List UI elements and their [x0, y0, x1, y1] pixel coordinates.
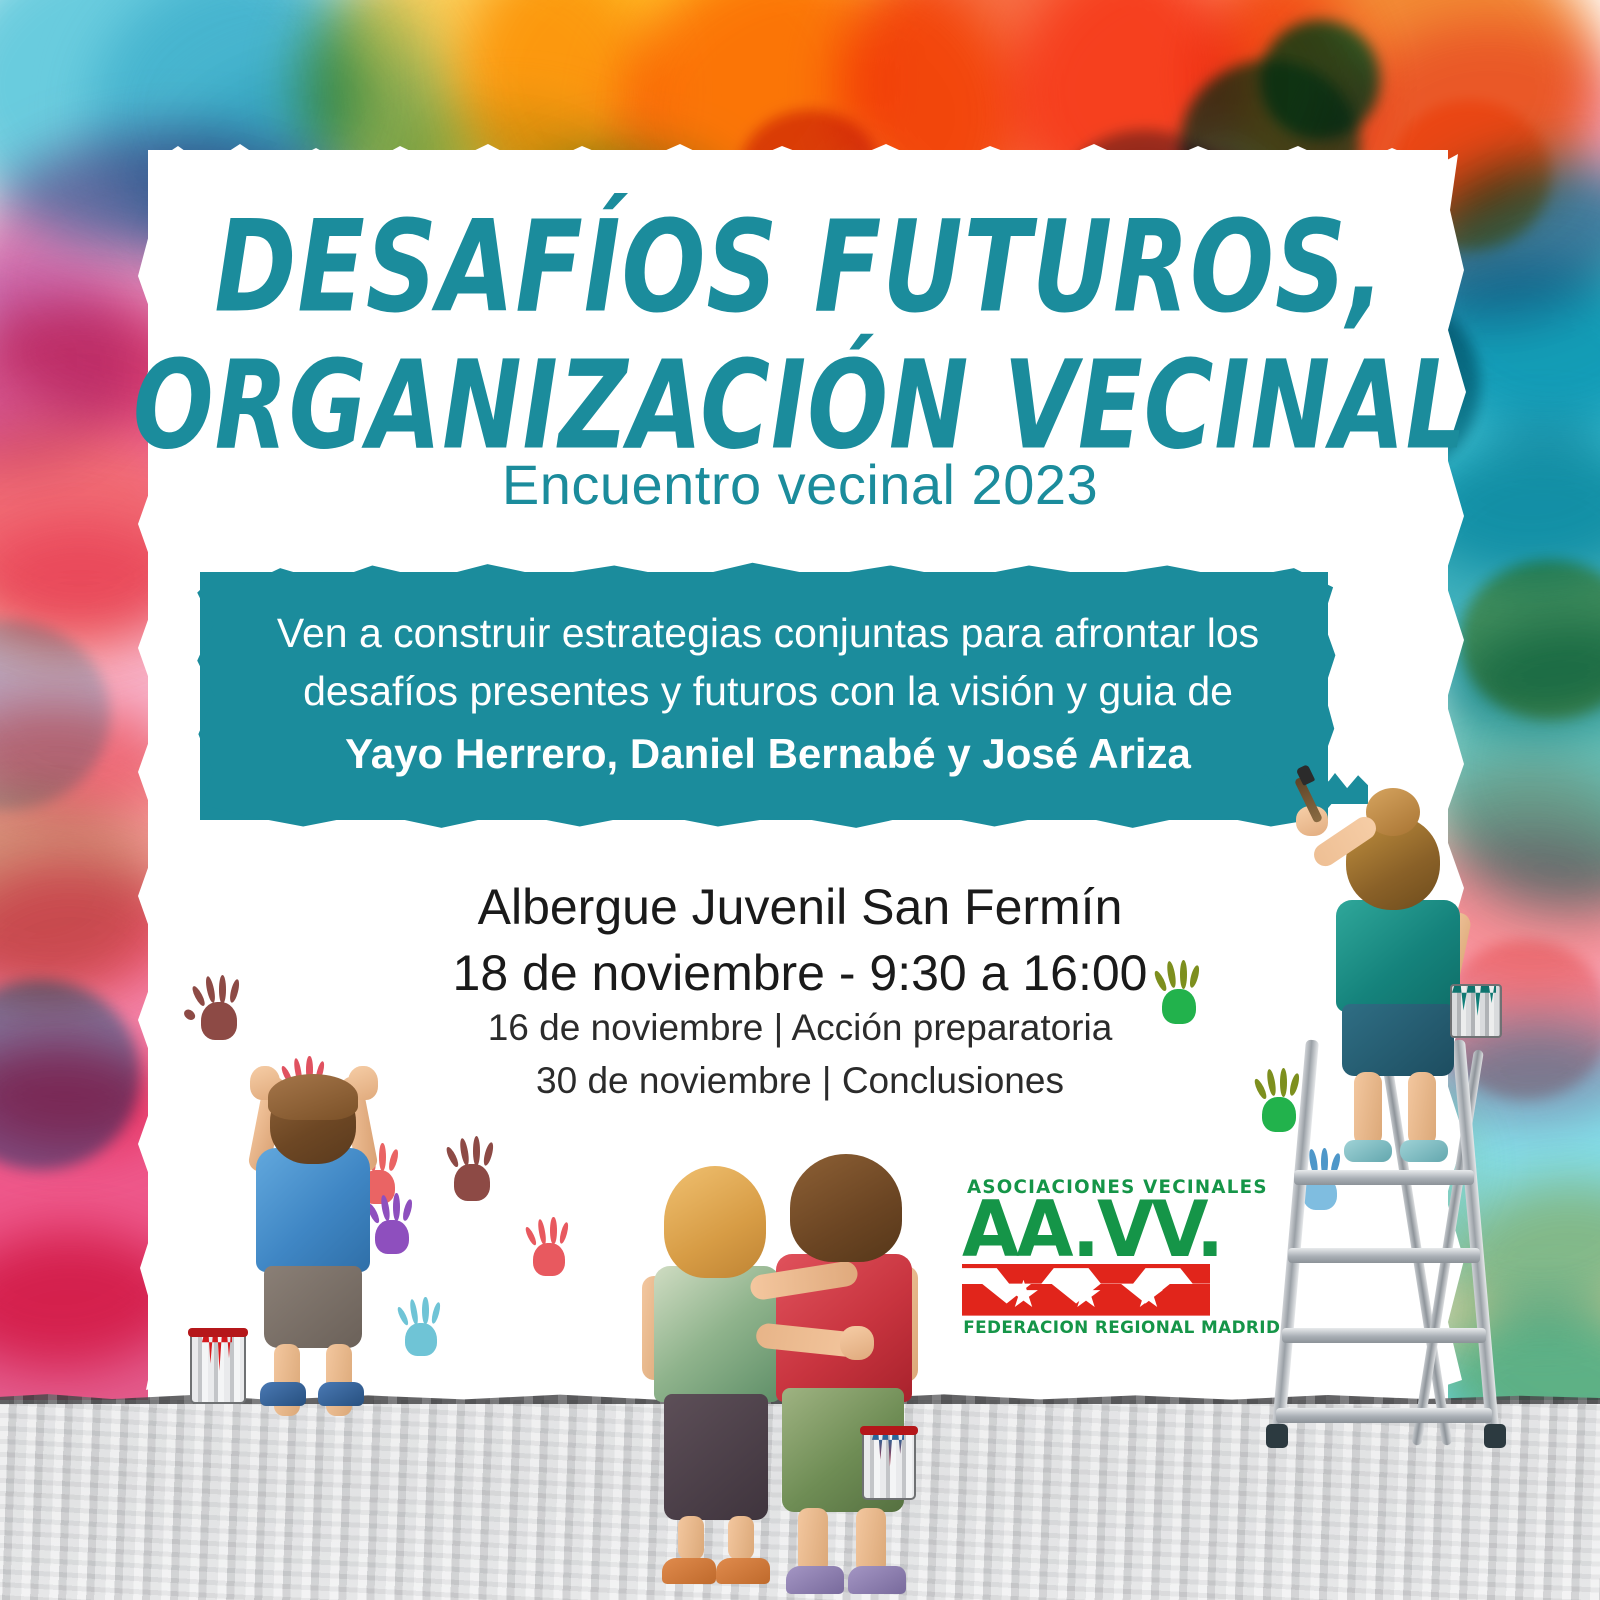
callout-text: Ven a construir estrategias conjuntas pa…	[248, 604, 1288, 784]
title-line-1: DESAFÍOS FUTUROS,	[40, 196, 1560, 338]
child-on-ladder-painting	[1300, 788, 1490, 1118]
star-icon	[1134, 1280, 1164, 1310]
star-icon	[1009, 1280, 1039, 1310]
handprint-red	[520, 1216, 578, 1280]
aavv-logo: ASOCIACIONES VECINALES AA.VV. FEDERACION…	[962, 1176, 1210, 1338]
paint-can-left	[190, 1330, 246, 1404]
page-subtitle: Encuentro vecinal 2023	[0, 452, 1600, 517]
star-icon	[1071, 1280, 1101, 1310]
logo-stars	[962, 1280, 1210, 1310]
logo-acronym: AA.VV.	[962, 1198, 1210, 1262]
poster-canvas: DESAFÍOS FUTUROS, ORGANIZACIÓN VECINAL E…	[0, 0, 1600, 1600]
handprint-brown	[440, 1135, 504, 1205]
callout-speakers: Yayo Herrero, Daniel Bernabé y José Ariz…	[248, 724, 1288, 784]
two-children-hugging	[640, 1148, 970, 1600]
callout-line-2: desafíos presentes y futuros con la visi…	[303, 668, 1233, 714]
logo-red-banner	[962, 1264, 1210, 1316]
handprint-green	[1148, 960, 1210, 1028]
logo-bottom-line: FEDERACION REGIONAL MADRID	[963, 1318, 1209, 1338]
paint-can-center	[862, 1428, 916, 1500]
child-touching-wall	[222, 1030, 402, 1405]
page-title: DESAFÍOS FUTUROS, ORGANIZACIÓN VECINAL	[40, 196, 1560, 475]
callout-line-1: Ven a construir estrategias conjuntas pa…	[277, 610, 1259, 656]
